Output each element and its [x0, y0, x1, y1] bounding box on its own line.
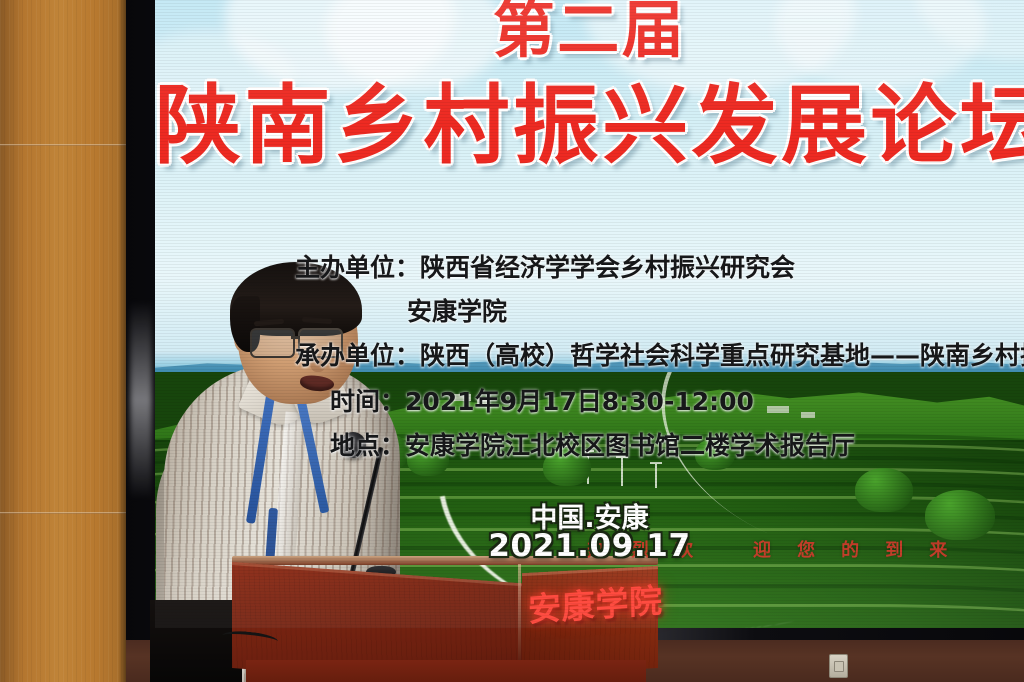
led-display-screen: 第二届 陕南乡村振兴发展论坛 主办单位：陕西省经济学学会乡村振兴研究会 安康学院… [155, 0, 1024, 628]
organizer-primary-line: 主办单位：陕西省经济学学会乡村振兴研究会 [295, 248, 795, 284]
conference-room-scene: 第二届 陕南乡村振兴发展论坛 主办单位：陕西省经济学学会乡村振兴研究会 安康学院… [0, 0, 1024, 682]
bezel-glint [130, 300, 152, 500]
podium-lower-body [246, 660, 646, 682]
forum-title-line-2: 陕南乡村振兴发展论坛 [155, 76, 1024, 176]
screen-text-overlay: 第二届 陕南乡村振兴发展论坛 主办单位：陕西省经济学学会乡村振兴研究会 安康学院… [155, 0, 1024, 628]
wood-panel-seam [0, 144, 132, 146]
event-time-line: 时间：2021年9月17日8:30-12:00 [330, 382, 754, 418]
event-date-label: 2021.09.17 [155, 528, 1024, 564]
co-organizer-line: 承办单位：陕西（高校）哲学社会科学重点研究基地——陕南乡村振兴研究中心 [295, 336, 1024, 372]
wood-panel-seam [0, 512, 132, 514]
wood-panel-wall [0, 0, 132, 682]
wall-socket-icon[interactable] [829, 654, 848, 678]
forum-title-line-1: 第二届 [155, 0, 1024, 66]
organizer-secondary-line: 安康学院 [407, 292, 507, 328]
event-venue-line: 地点：安康学院江北校区图书馆二楼学术报告厅 [330, 426, 855, 462]
wood-grain-texture [0, 0, 132, 682]
